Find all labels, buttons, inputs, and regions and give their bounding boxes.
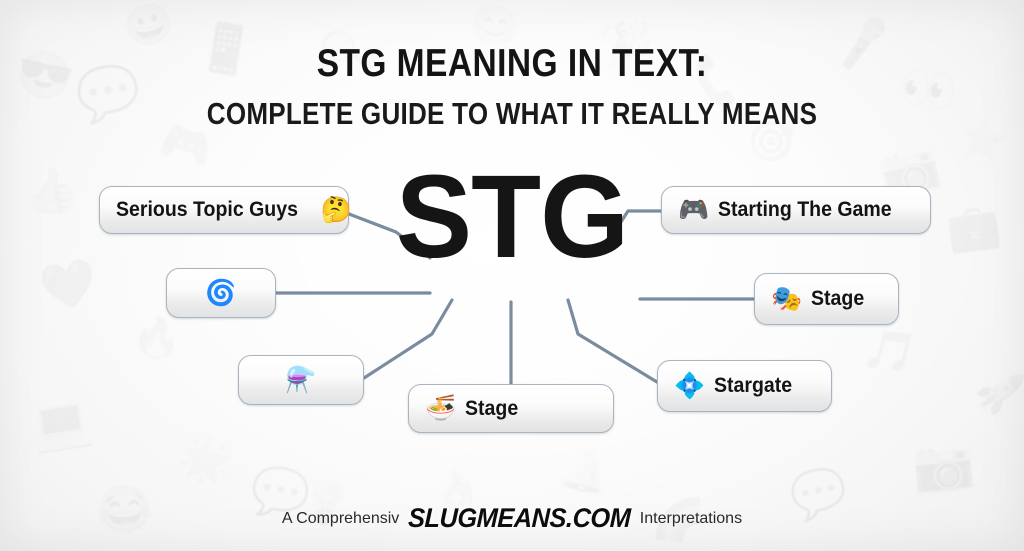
- site-watermark: SLUGMEANS.COM: [408, 503, 631, 534]
- blue-portal-swirl-icon: 💠: [674, 374, 705, 399]
- title-block: STG MEANING IN TEXT: COMPLETE GUIDE TO W…: [0, 42, 1024, 132]
- connector-stargate: [568, 300, 657, 382]
- node-stargate-label: Stargate: [714, 374, 792, 398]
- flaming-bowl-icon: 🍜: [425, 396, 456, 421]
- connector-molecule: [364, 300, 452, 378]
- node-stargate[interactable]: 💠 Stargate: [657, 360, 832, 412]
- molecule-icon: ⚗️: [285, 368, 316, 393]
- node-stage-center[interactable]: 🍜 Stage: [408, 384, 614, 433]
- node-stage-right-label: Stage: [811, 287, 864, 311]
- footer-left-text: A Comprehensiv: [282, 510, 399, 528]
- page-title: STG MEANING IN TEXT:: [72, 42, 953, 86]
- infographic-canvas: 💬😎😀📱👍🎮❤️🔥💻🌟😂💬🔍😊🎉📞🎤👀📷⭐💼🎵📷🚀💬🌈👌🔔🎯💡 STG MEAN: [0, 0, 1024, 551]
- node-stage-right[interactable]: 🎭 Stage: [754, 273, 899, 325]
- node-molecule[interactable]: ⚗️: [238, 355, 364, 405]
- page-subtitle: COMPLETE GUIDE TO WHAT IT REALLY MEANS: [82, 96, 942, 132]
- node-stage-center-label: Stage: [465, 397, 518, 421]
- center-acronym: STG: [15, 158, 1008, 276]
- footer: A Comprehensiv SLUGMEANS.COM Interpretat…: [0, 503, 1024, 534]
- spiral-black-hole-icon: 🌀: [205, 281, 236, 306]
- footer-right-text: Interpretations: [640, 510, 742, 528]
- theater-masks-icon: 🎭: [771, 287, 802, 312]
